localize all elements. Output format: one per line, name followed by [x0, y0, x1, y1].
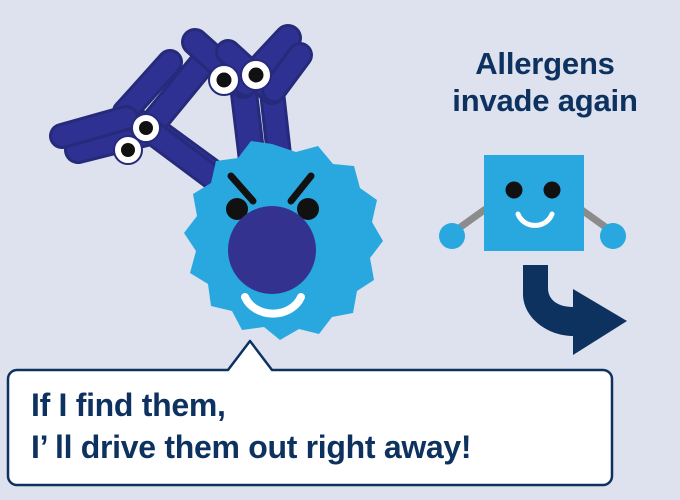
- allergen-hand-left: [439, 223, 465, 249]
- allergen-eye-right: [544, 182, 561, 199]
- curved-arrow-icon: [523, 265, 627, 355]
- allergen-character: [439, 155, 626, 251]
- immune-cell-character: [184, 141, 383, 340]
- headline-line-2: invade again: [420, 83, 670, 120]
- speech-bubble-line-2: I’ ll drive them out right away!: [31, 427, 601, 469]
- speech-bubble-text: If I find them, I’ ll drive them out rig…: [31, 385, 601, 468]
- headline-text: Allergens invade again: [420, 46, 670, 119]
- allergen-eye-left: [506, 182, 523, 199]
- allergen-hand-right: [600, 223, 626, 249]
- allergen-body: [484, 155, 584, 251]
- illustration-scene: Allergens invade again If I find them, I…: [0, 0, 680, 500]
- immune-cell-nose: [228, 206, 316, 294]
- headline-line-1: Allergens: [420, 46, 670, 83]
- speech-bubble-line-1: If I find them,: [31, 385, 601, 427]
